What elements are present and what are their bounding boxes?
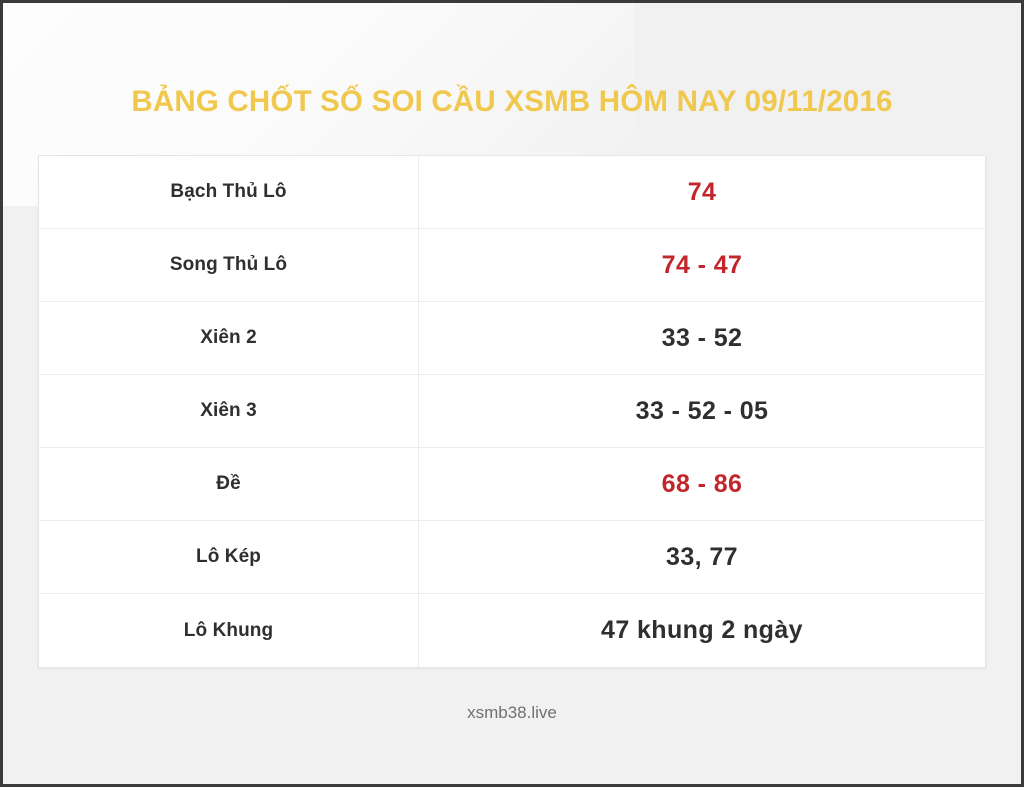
- row-label-cell: Lô Khung: [39, 594, 419, 667]
- table-row: Xiên 333 - 52 - 05: [39, 375, 985, 448]
- page-title: BẢNG CHỐT SỐ SOI CẦU XSMB HÔM NAY 09/11/…: [3, 85, 1021, 119]
- row-value-cell: 74: [419, 156, 985, 228]
- row-label: Lô Kép: [196, 546, 261, 568]
- header: BẢNG CHỐT SỐ SOI CẦU XSMB HÔM NAY 09/11/…: [3, 85, 1021, 119]
- table-row: Lô Kép33, 77: [39, 521, 985, 594]
- row-label-cell: Đề: [39, 448, 419, 520]
- row-value-cell: 74 - 47: [419, 229, 985, 301]
- row-value-cell: 33 - 52: [419, 302, 985, 374]
- row-label-cell: Bạch Thủ Lô: [39, 156, 419, 228]
- row-value-cell: 33, 77: [419, 521, 985, 593]
- prediction-table: Bạch Thủ Lô74Song Thủ Lô74 - 47Xiên 233 …: [38, 155, 986, 668]
- row-value: 68 - 86: [662, 470, 743, 499]
- row-label-cell: Song Thủ Lô: [39, 229, 419, 301]
- row-value: 33 - 52 - 05: [636, 397, 769, 426]
- footer: xsmb38.live: [3, 703, 1021, 723]
- row-label: Xiên 2: [200, 327, 257, 349]
- row-label: Lô Khung: [184, 620, 273, 642]
- row-value: 33 - 52: [662, 324, 743, 353]
- row-label: Đề: [216, 473, 241, 495]
- row-label: Song Thủ Lô: [170, 254, 287, 276]
- table-row: Đề68 - 86: [39, 448, 985, 521]
- row-label-cell: Xiên 3: [39, 375, 419, 447]
- row-label-cell: Lô Kép: [39, 521, 419, 593]
- row-label: Bạch Thủ Lô: [170, 181, 286, 203]
- page-container: BẢNG CHỐT SỐ SOI CẦU XSMB HÔM NAY 09/11/…: [3, 3, 1021, 784]
- row-value: 47 khung 2 ngày: [601, 616, 803, 645]
- row-value: 74 - 47: [662, 251, 743, 280]
- row-value: 33, 77: [666, 543, 738, 572]
- table-row: Song Thủ Lô74 - 47: [39, 229, 985, 302]
- site-watermark: xsmb38.live: [3, 703, 1021, 723]
- row-value: 74: [688, 178, 717, 207]
- row-label-cell: Xiên 2: [39, 302, 419, 374]
- row-value-cell: 33 - 52 - 05: [419, 375, 985, 447]
- table-row: Bạch Thủ Lô74: [39, 156, 985, 229]
- row-value-cell: 47 khung 2 ngày: [419, 594, 985, 667]
- table-row: Lô Khung47 khung 2 ngày: [39, 594, 985, 667]
- row-value-cell: 68 - 86: [419, 448, 985, 520]
- row-label: Xiên 3: [200, 400, 257, 422]
- table-row: Xiên 233 - 52: [39, 302, 985, 375]
